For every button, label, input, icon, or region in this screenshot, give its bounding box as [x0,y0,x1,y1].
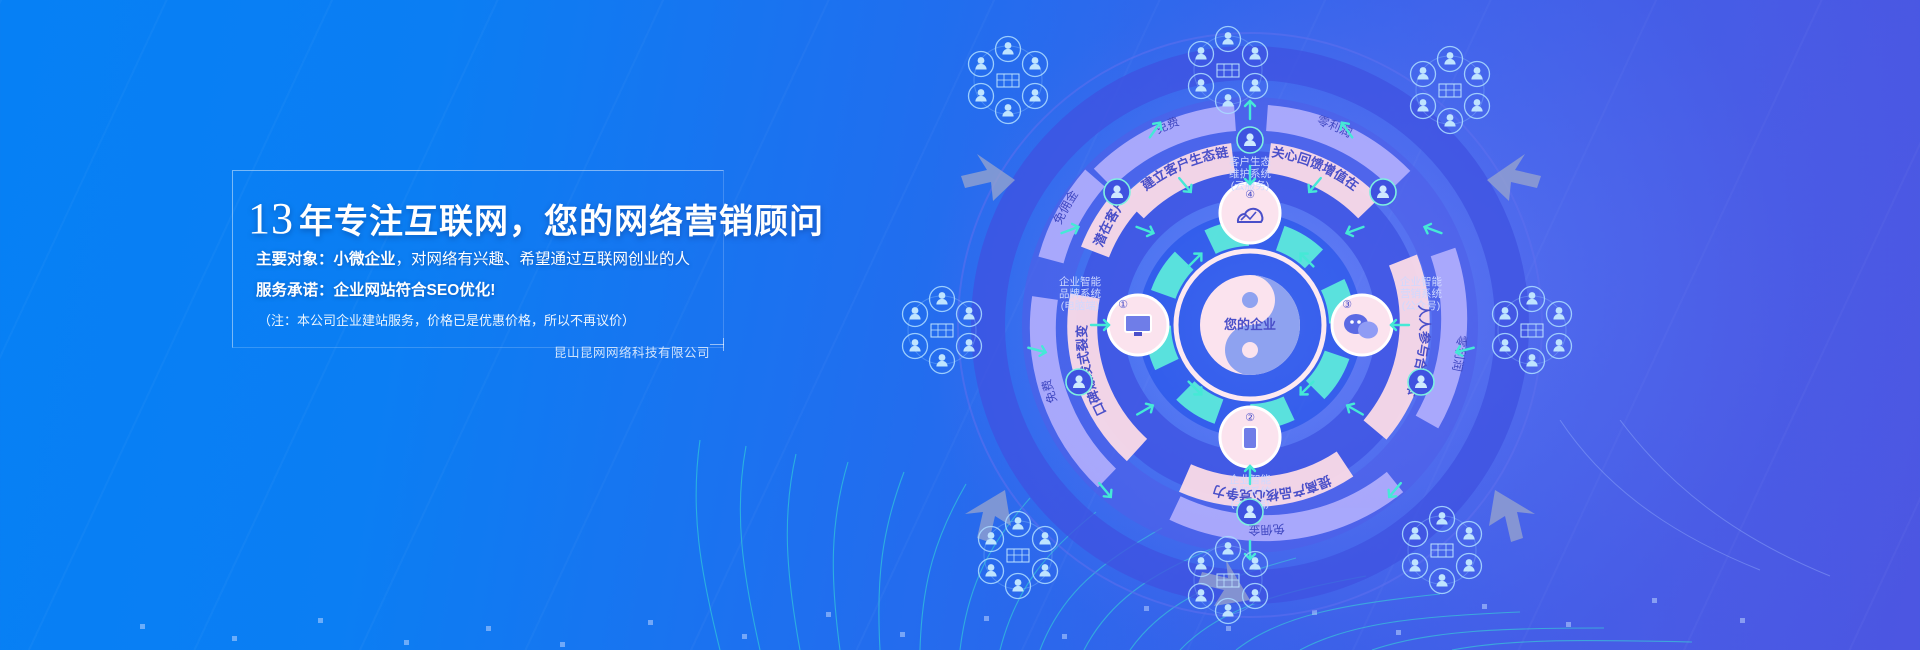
node-1-caption-l3: (电脑端) [1061,299,1100,312]
badge-top-left [1104,179,1130,205]
node-1-caption-l1: 企业智能 [1059,275,1101,288]
price-note: （注：本公司企业建站服务，价格已是优惠价格，所以不再议价） [258,310,635,329]
company-name: 昆山昆网网络科技有限公司 [232,342,710,361]
badge-left [1066,369,1092,395]
desktop-monitor-icon [1125,315,1151,336]
badge-top [1237,127,1263,153]
promise-line: 服务承诺：企业网站符合SEO优化! [256,278,495,300]
node-1-index: ① [1118,299,1128,311]
audience-line: 主要对象：小微企业，对网络有兴趣、希望通过互联网创业的人 [256,247,690,269]
node-3-index: ③ [1342,299,1352,311]
marketing-ecosystem-diagram: 您的企业 ④ ① ③ ② 客户生态 维护系统 [855,0,1645,650]
promo-content: 13年专注互联网，您的网络营销顾问 主要对象：小微企业，对网络有兴趣、希望通过互… [232,170,792,400]
page-title: 13年专注互联网，您的网络营销顾问 [248,194,824,243]
node-3-caption-l2: 营销系统 [1400,287,1442,300]
node-1-caption-l2: 品牌系统 [1059,287,1101,300]
smartphone-icon [1243,427,1257,449]
audience-rest: ，对网络有兴趣、希望通过互联网创业的人 [396,251,691,268]
headline-rest: 年专注互联网，您的网络营销顾问 [299,203,824,241]
promise-value: 企业网站符合SEO优化! [334,282,496,299]
audience-label: 主要对象： [256,251,334,268]
headline-number: 13 [248,194,294,243]
node-3-caption-l1: 企业智能 [1400,275,1442,288]
center-label: 您的企业 [1224,317,1276,332]
corner-tick-mark [710,344,724,345]
node-2-index: ② [1245,412,1255,424]
badge-right [1408,369,1434,395]
badge-top-right [1370,179,1396,205]
promise-label: 服务承诺： [256,282,334,299]
audience-strong: 小微企业 [334,251,396,268]
badge-bottom [1237,499,1263,525]
